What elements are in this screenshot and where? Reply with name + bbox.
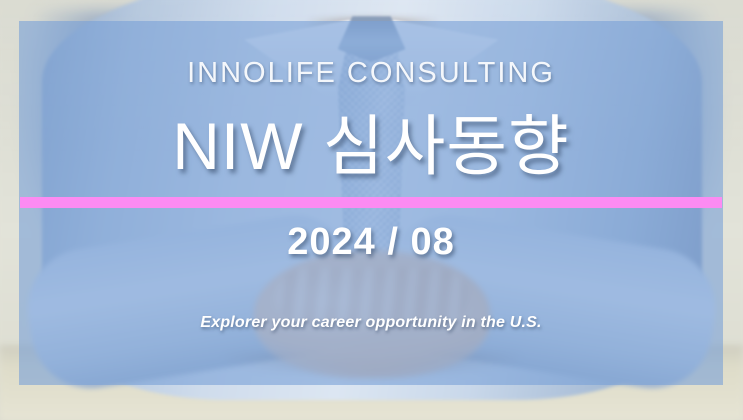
tagline: Explorer your career opportunity in the … [19,314,723,332]
banner-title: NIW 심사동향 [19,113,723,179]
promo-banner: INNOLIFE CONSULTING NIW 심사동향 2024 / 08 E… [0,0,743,420]
period-label: 2024 / 08 [19,221,723,264]
company-kicker: INNOLIFE CONSULTING [19,57,723,90]
banner-content: INNOLIFE CONSULTING NIW 심사동향 2024 / 08 E… [19,21,723,385]
pink-divider [20,197,722,208]
